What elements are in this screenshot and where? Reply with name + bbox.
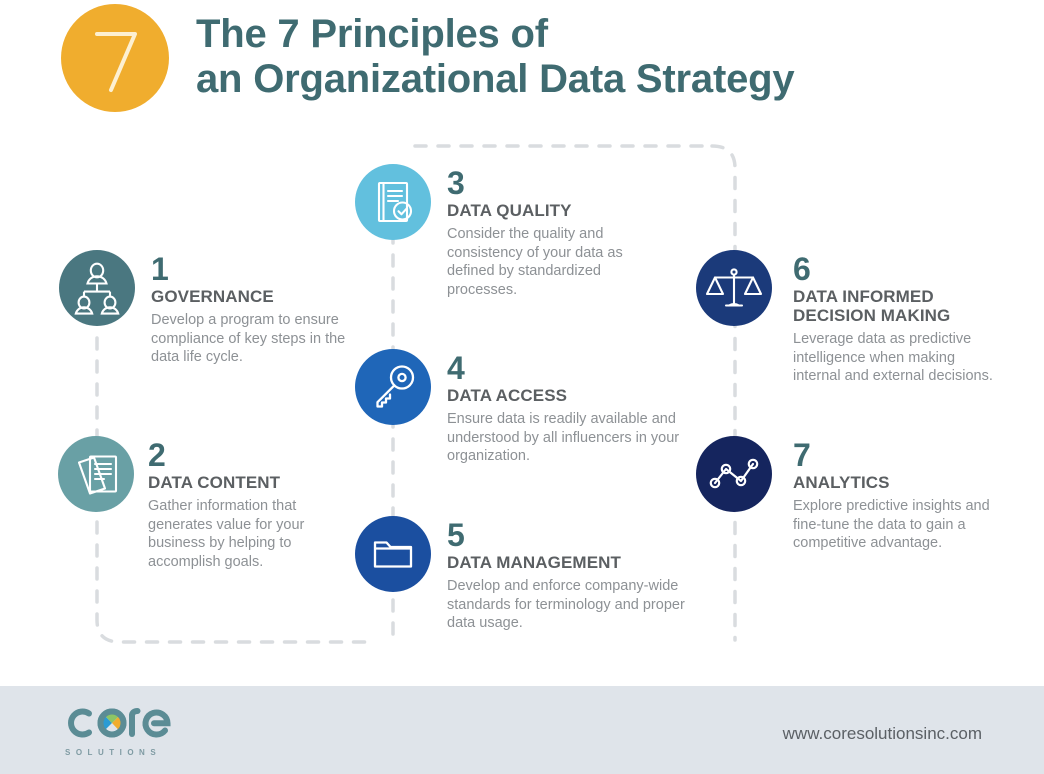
principle-body-5: 5 DATA MANAGEMENT Develop and enforce co… (447, 520, 687, 633)
principle-name-2: DATA CONTENT (148, 473, 378, 492)
principle-number-7: 7 (793, 440, 1003, 470)
principle-number-5: 5 (447, 520, 687, 550)
website-url[interactable]: www.coresolutionsinc.com (783, 724, 982, 744)
folder-icon (355, 516, 431, 592)
org-chart-people-icon (59, 250, 135, 326)
logo-subtext: SOLUTIONS (65, 748, 161, 757)
key-icon (355, 349, 431, 425)
principle-name-4: DATA ACCESS (447, 386, 687, 405)
principle-description-5: Develop and enforce company-wide standar… (447, 577, 687, 633)
principle-number-6: 6 (793, 254, 1003, 284)
principle-name-6: DATA INFORMED DECISION MAKING (793, 287, 993, 325)
principle-number-1: 1 (151, 254, 366, 284)
principle-body-6: 6 DATA INFORMED DECISION MAKING Leverage… (793, 254, 1003, 386)
document-check-icon (355, 164, 431, 240)
principle-description-7: Explore predictive insights and fine-tun… (793, 497, 1003, 553)
principle-body-1: 1 GOVERNANCE Develop a program to ensure… (151, 254, 366, 367)
principle-body-4: 4 DATA ACCESS Ensure data is readily ava… (447, 353, 687, 466)
principle-name-1: GOVERNANCE (151, 287, 366, 306)
footer: core SOLUTIONS www.coresolutionsinc.com (0, 686, 1044, 774)
principle-name-3: DATA QUALITY (447, 201, 662, 220)
principle-description-3: Consider the quality and consistency of … (447, 225, 662, 299)
principle-description-2: Gather information that generates value … (148, 497, 318, 571)
principle-description-4: Ensure data is readily available and und… (447, 410, 687, 466)
principle-name-7: ANALYTICS (793, 473, 1003, 492)
principle-body-3: 3 DATA QUALITY Consider the quality and … (447, 168, 662, 299)
logo-wordmark: core (62, 700, 202, 746)
principle-name-5: DATA MANAGEMENT (447, 553, 687, 572)
dash-path-right (712, 146, 735, 640)
documents-stack-icon (58, 436, 134, 512)
principle-number-3: 3 (447, 168, 662, 198)
balance-scales-icon (696, 250, 772, 326)
principle-body-2: 2 DATA CONTENT Gather information that g… (148, 440, 378, 571)
principle-number-2: 2 (148, 440, 378, 470)
node-graph-icon (696, 436, 772, 512)
principle-description-6: Leverage data as predictive intelligence… (793, 330, 1003, 386)
principle-description-1: Develop a program to ensure compliance o… (151, 311, 366, 367)
principle-number-4: 4 (447, 353, 687, 383)
infographic-canvas: 7 The 7 Principles of an Organizational … (0, 0, 1044, 774)
core-solutions-logo: core SOLUTIONS (62, 700, 202, 746)
principle-body-7: 7 ANALYTICS Explore predictive insights … (793, 440, 1003, 553)
